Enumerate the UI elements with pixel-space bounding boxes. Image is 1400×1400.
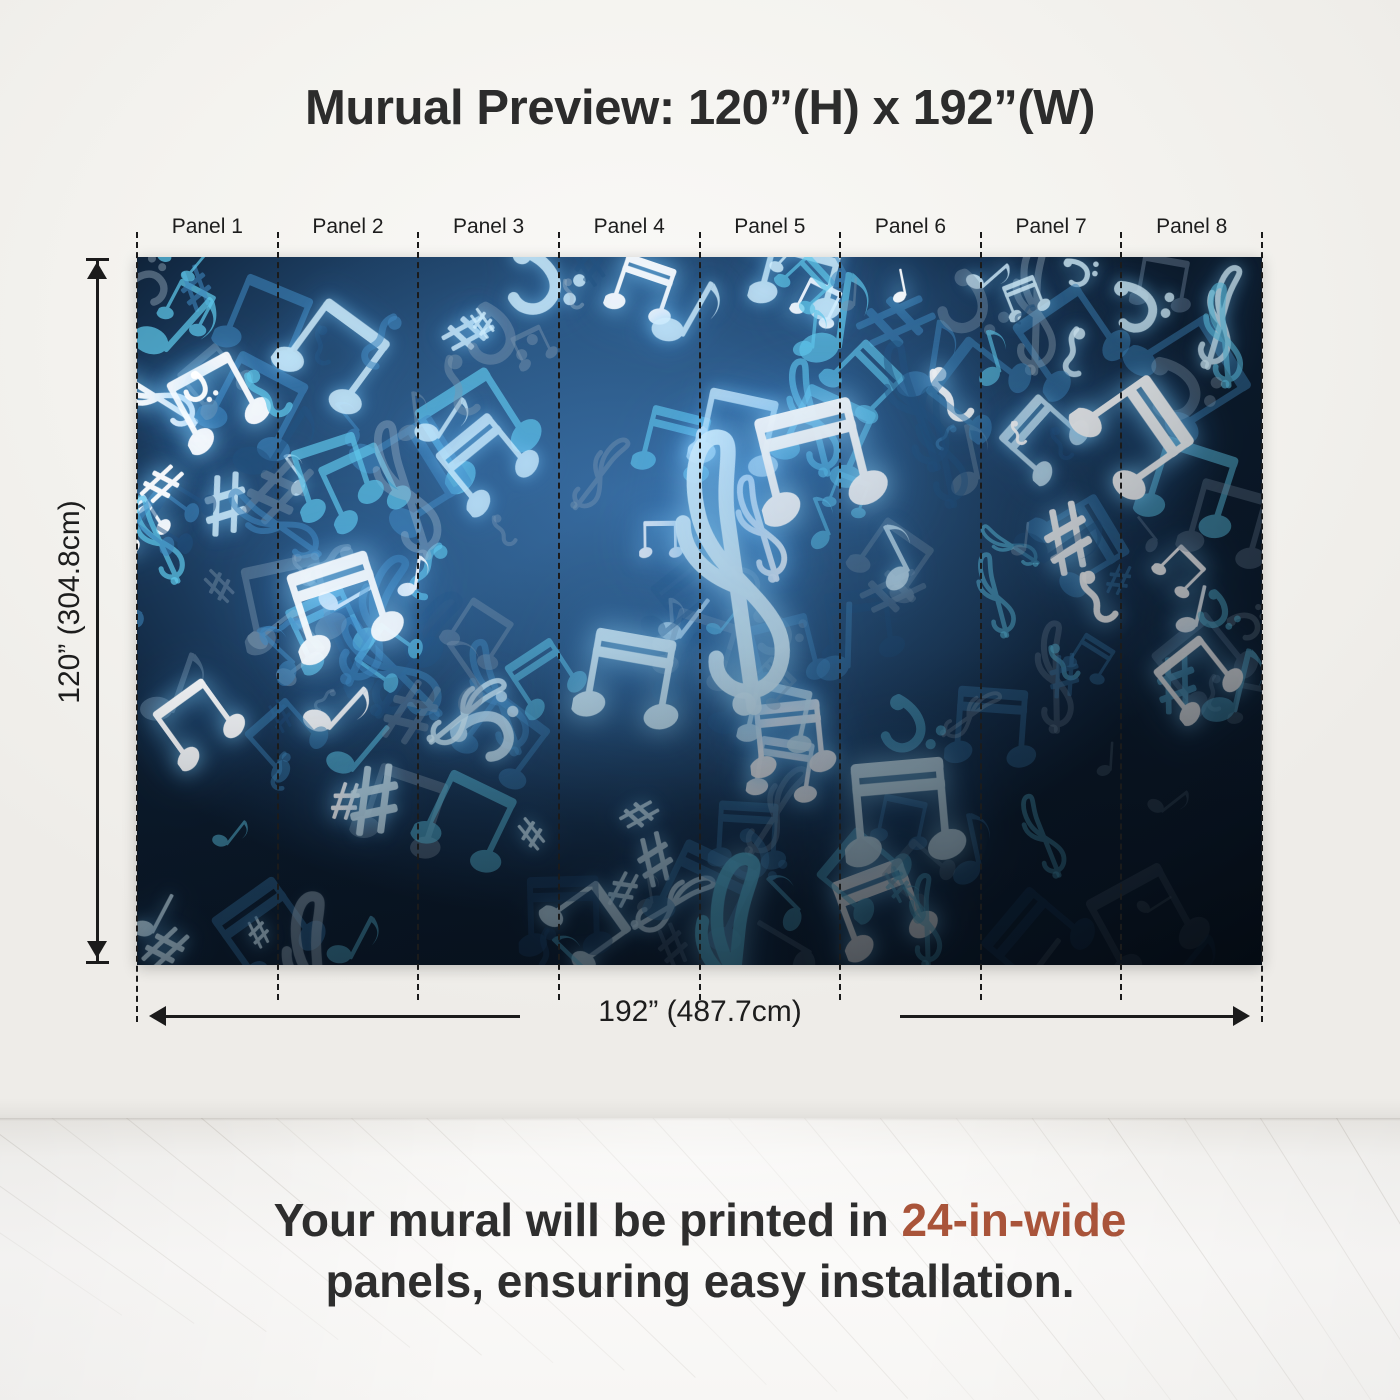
music-note-beamed bbox=[744, 692, 841, 789]
music-note-bass bbox=[1186, 584, 1247, 646]
music-note-eighth bbox=[964, 321, 1018, 390]
music-note-rest bbox=[347, 304, 408, 390]
music-note-beamed bbox=[423, 398, 553, 528]
width-dimension-line-left bbox=[160, 1015, 520, 1018]
music-note-sharp bbox=[261, 696, 300, 737]
music-note-beamed bbox=[399, 350, 558, 509]
music-note-treble bbox=[451, 628, 546, 769]
music-note-sharp bbox=[435, 302, 500, 363]
music-note-beamed bbox=[279, 421, 392, 534]
music-note-treble bbox=[353, 408, 462, 575]
music-note-bass-large bbox=[1243, 957, 1262, 965]
music-note-beamed-large bbox=[272, 537, 415, 680]
music-note-sharp bbox=[601, 866, 644, 915]
music-note-beamed bbox=[968, 869, 1112, 965]
music-note-eighth bbox=[531, 922, 608, 965]
panel-divider-5 bbox=[839, 232, 841, 1000]
music-note-eighth bbox=[648, 591, 690, 653]
music-note-quarter bbox=[137, 591, 151, 631]
music-note-eighth bbox=[1133, 909, 1233, 965]
music-note-beamed bbox=[347, 612, 434, 699]
music-note-quarter bbox=[988, 917, 1072, 965]
music-note-treble bbox=[931, 681, 1013, 752]
music-note-beamed bbox=[516, 869, 615, 965]
music-note-beamed bbox=[786, 272, 851, 337]
music-note-beamed bbox=[137, 486, 179, 561]
music-note-beamed bbox=[1226, 677, 1262, 738]
music-note-treble-large bbox=[651, 415, 819, 735]
music-note-treble bbox=[1030, 617, 1082, 738]
music-note-eighth bbox=[791, 303, 830, 360]
panel-divider-3 bbox=[558, 232, 560, 1000]
music-note-treble bbox=[1008, 785, 1080, 888]
music-note-sharp bbox=[326, 778, 365, 825]
music-note-rest bbox=[280, 549, 328, 599]
music-note-treble bbox=[863, 329, 968, 487]
music-note-treble bbox=[966, 545, 1027, 645]
music-note-rest bbox=[284, 526, 361, 609]
music-note-treble bbox=[413, 664, 521, 764]
music-note-beamed bbox=[768, 257, 844, 323]
music-note-bass bbox=[1102, 275, 1183, 345]
music-note-eighth bbox=[810, 257, 862, 291]
music-note-beamed bbox=[1138, 597, 1262, 732]
music-note-quarter bbox=[1133, 883, 1176, 920]
music-note-sharp bbox=[199, 471, 253, 541]
footer-line2: panels, ensuring easy installation. bbox=[325, 1255, 1074, 1307]
music-note-beamed bbox=[495, 627, 598, 730]
music-note-beamed bbox=[628, 397, 726, 495]
music-note-beamed bbox=[168, 332, 264, 428]
music-note-beamed bbox=[943, 679, 1044, 780]
music-note-beamed bbox=[998, 267, 1146, 415]
music-note-eighth bbox=[962, 257, 1020, 304]
music-note-beamed bbox=[737, 650, 805, 718]
music-note-sharp bbox=[370, 669, 450, 758]
music-note-beamed bbox=[152, 273, 225, 346]
music-note-treble bbox=[1182, 257, 1260, 381]
panel-divider-7 bbox=[1120, 232, 1122, 1000]
width-dimension-label: 192” (487.7cm) bbox=[520, 995, 880, 1029]
music-note-rest bbox=[228, 361, 314, 436]
music-note-sharp bbox=[1101, 560, 1136, 601]
panel-label-5: Panel 5 bbox=[700, 215, 840, 239]
music-note-rest bbox=[396, 534, 454, 619]
music-note-bass bbox=[712, 822, 796, 905]
music-note-beamed bbox=[814, 579, 909, 674]
music-note-bass bbox=[1222, 599, 1262, 649]
music-note-treble bbox=[321, 596, 466, 741]
music-note-beamed bbox=[1058, 626, 1124, 692]
music-note-beamed bbox=[1014, 482, 1143, 611]
music-note-beamed bbox=[988, 380, 1102, 494]
music-note-rest bbox=[1002, 417, 1037, 455]
music-note-bass bbox=[485, 257, 598, 341]
music-note-sharp bbox=[627, 827, 683, 892]
music-note-rest bbox=[301, 321, 343, 379]
music-note-beamed bbox=[600, 257, 689, 336]
music-note-rest bbox=[242, 602, 309, 662]
music-note-beamed bbox=[505, 319, 563, 377]
music-note-beamed bbox=[309, 566, 457, 714]
music-note-quarter bbox=[1096, 739, 1118, 779]
music-note-rest bbox=[681, 422, 711, 467]
music-note-beamed bbox=[839, 507, 948, 616]
music-note-rest bbox=[522, 923, 573, 965]
music-note-sharp bbox=[1046, 653, 1083, 701]
music-note-beamed bbox=[1146, 538, 1214, 606]
music-note-sharp bbox=[137, 455, 190, 513]
music-note-sharp bbox=[196, 565, 242, 609]
music-note-bass bbox=[447, 294, 548, 391]
music-note-beamed bbox=[1071, 847, 1225, 965]
panel-label-7: Panel 7 bbox=[981, 215, 1121, 239]
music-note-eighth bbox=[209, 808, 257, 858]
music-note-rest bbox=[306, 681, 340, 721]
music-note-beamed bbox=[820, 466, 880, 526]
music-note-beamed bbox=[234, 686, 340, 792]
music-note-eighth bbox=[889, 876, 939, 927]
music-note-quarter bbox=[887, 265, 912, 304]
music-note-beamed bbox=[811, 329, 918, 436]
music-note-eighth bbox=[1005, 487, 1122, 595]
music-note-bass bbox=[862, 687, 956, 778]
music-note-beamed bbox=[1143, 623, 1256, 736]
music-note-bass bbox=[742, 604, 814, 667]
music-note-treble bbox=[902, 378, 982, 518]
music-note-eighth bbox=[392, 386, 433, 445]
panel-label-2: Panel 2 bbox=[278, 215, 418, 239]
music-note-sharp bbox=[615, 791, 664, 838]
music-note-beamed bbox=[433, 590, 525, 682]
music-note-sharp bbox=[137, 916, 196, 965]
music-note-treble bbox=[972, 513, 1049, 578]
music-note-eighth bbox=[938, 802, 1003, 889]
music-note-beamed bbox=[805, 812, 926, 933]
mural-edge-guide bbox=[1261, 232, 1263, 1022]
panel-label-4: Panel 4 bbox=[559, 215, 699, 239]
music-note-eighth bbox=[319, 391, 376, 450]
music-note-beamed bbox=[818, 846, 948, 965]
music-note-beamed bbox=[307, 431, 422, 546]
height-dimension-label: 120” (304.8cm) bbox=[53, 472, 87, 732]
music-note-sharp bbox=[876, 862, 918, 907]
music-note-sharp bbox=[240, 914, 277, 953]
music-note-beamed bbox=[239, 600, 336, 697]
music-note-eighth bbox=[936, 414, 1001, 501]
music-note-beamed-large bbox=[837, 747, 972, 882]
music-note-rest bbox=[1196, 671, 1231, 724]
music-note-beamed bbox=[644, 621, 773, 750]
music-note-quarter bbox=[320, 704, 400, 789]
music-note-beamed bbox=[142, 665, 258, 781]
music-note-beamed bbox=[997, 269, 1056, 328]
music-note-eighth bbox=[409, 380, 481, 459]
music-note-sharp bbox=[1032, 497, 1105, 583]
music-note-treble bbox=[1197, 279, 1253, 395]
mural-edge-guide bbox=[136, 232, 138, 1022]
music-note-beamed bbox=[187, 339, 327, 479]
music-note-rest bbox=[1060, 563, 1139, 644]
width-arrow-left-icon bbox=[149, 1006, 166, 1026]
music-note-sharp bbox=[464, 305, 502, 344]
music-note-quarter bbox=[1174, 577, 1214, 638]
panel-divider-4 bbox=[699, 232, 701, 1000]
panel-label-6: Panel 6 bbox=[840, 215, 980, 239]
music-note-eighth bbox=[1143, 775, 1198, 827]
music-note-eighth bbox=[225, 379, 334, 500]
music-note-beamed bbox=[528, 870, 643, 965]
music-note-rest bbox=[928, 419, 961, 461]
music-note-eighth bbox=[137, 635, 217, 736]
music-note-beamed bbox=[1108, 299, 1262, 460]
music-note-beamed bbox=[1127, 257, 1201, 322]
music-note-beamed bbox=[137, 476, 210, 562]
music-note-beamed bbox=[867, 789, 937, 859]
music-note-beamed bbox=[639, 539, 754, 654]
height-dimension-line bbox=[96, 258, 99, 964]
music-note-beamed bbox=[274, 574, 386, 686]
music-note-quarter bbox=[1125, 511, 1167, 556]
panel-divider-1 bbox=[277, 232, 279, 1000]
music-note-rest bbox=[266, 750, 294, 801]
music-note-beamed bbox=[707, 795, 792, 880]
music-note-bass bbox=[441, 682, 544, 782]
music-note-rest bbox=[1037, 421, 1087, 473]
music-note-rest bbox=[910, 358, 997, 444]
music-note-bass bbox=[1060, 257, 1104, 292]
music-note-quarter bbox=[703, 598, 744, 643]
music-note-treble-large bbox=[669, 842, 800, 965]
music-note-beamed bbox=[634, 827, 777, 965]
music-note-quarter bbox=[738, 909, 830, 965]
music-note-beamed-large bbox=[568, 618, 694, 744]
music-note-beamed bbox=[335, 400, 489, 554]
music-note-eighth bbox=[631, 867, 665, 914]
music-note-sharp bbox=[847, 277, 943, 366]
music-note-beamed bbox=[743, 257, 860, 335]
music-note-beamed bbox=[403, 758, 534, 889]
music-note-beamed bbox=[1128, 425, 1257, 554]
music-note-rest bbox=[1053, 324, 1094, 392]
music-note-bass bbox=[1131, 349, 1232, 440]
footer-line1-accent: 24-in-wide bbox=[901, 1194, 1126, 1246]
music-note-eighth bbox=[746, 862, 820, 937]
music-note-rest bbox=[421, 345, 503, 439]
music-note-quarter bbox=[653, 582, 719, 654]
music-note-quarter bbox=[839, 274, 861, 313]
music-note-beamed bbox=[1171, 469, 1262, 583]
music-note-sharp bbox=[852, 554, 932, 629]
music-note-rest bbox=[1036, 638, 1097, 696]
music-note-treble bbox=[721, 466, 802, 594]
music-note-sharp bbox=[647, 918, 698, 965]
music-note-beamed bbox=[639, 518, 684, 563]
music-note-beamed bbox=[741, 257, 805, 280]
music-note-beamed bbox=[154, 338, 283, 467]
music-note-beamed bbox=[443, 682, 566, 805]
music-note-sharp bbox=[171, 261, 222, 317]
music-note-beamed bbox=[762, 373, 894, 505]
music-note-treble bbox=[137, 347, 213, 445]
music-note-sharp bbox=[562, 257, 617, 293]
width-arrow-right-icon bbox=[1233, 1006, 1250, 1026]
footer-note: Your mural will be printed in 24-in-wide… bbox=[0, 1190, 1400, 1311]
music-note-beamed bbox=[1055, 360, 1211, 516]
music-note-treble bbox=[904, 870, 949, 965]
music-note-treble bbox=[728, 753, 827, 872]
music-note-bass bbox=[917, 261, 1019, 364]
panel-divider-6 bbox=[980, 232, 982, 1000]
music-note-quarter bbox=[1010, 518, 1034, 559]
page-title: Murual Preview: 120”(H) x 192”(W) bbox=[0, 80, 1400, 136]
music-note-beamed bbox=[873, 827, 966, 920]
music-note-treble bbox=[556, 426, 645, 525]
music-note-treble-large bbox=[270, 884, 368, 965]
music-note-bass bbox=[173, 367, 223, 417]
music-note-treble bbox=[619, 861, 728, 949]
music-note-beamed bbox=[228, 542, 355, 669]
music-note-beamed-large bbox=[738, 383, 899, 544]
music-note-treble bbox=[772, 349, 855, 487]
music-note-eighth bbox=[419, 625, 508, 721]
music-note-beamed bbox=[152, 257, 215, 289]
music-note-eighth bbox=[858, 512, 931, 597]
music-note-eighth bbox=[396, 549, 433, 601]
music-note-sharp bbox=[1151, 652, 1204, 719]
music-note-beamed bbox=[744, 730, 827, 813]
music-note-beamed bbox=[261, 285, 409, 433]
music-note-eighth bbox=[297, 663, 386, 754]
panel-label-8: Panel 8 bbox=[1122, 215, 1262, 239]
panel-label-1: Panel 1 bbox=[137, 215, 277, 239]
music-note-beamed bbox=[206, 263, 331, 388]
music-note-eighth bbox=[796, 257, 879, 373]
music-note-beamed bbox=[137, 469, 227, 560]
music-note-beamed bbox=[198, 861, 341, 965]
music-note-treble bbox=[1005, 257, 1068, 382]
music-note-rest bbox=[1006, 297, 1039, 334]
music-note-quarter bbox=[313, 567, 378, 622]
height-arrow-up-icon bbox=[87, 262, 107, 279]
panel-divider-2 bbox=[417, 232, 419, 1000]
music-note-treble bbox=[137, 484, 200, 595]
music-note-beamed bbox=[733, 672, 825, 764]
music-note-sharp bbox=[510, 813, 553, 856]
music-note-beamed bbox=[648, 600, 753, 705]
music-note-eighth bbox=[137, 268, 236, 383]
music-note-sharp bbox=[345, 763, 403, 840]
height-arrow-down-icon bbox=[87, 941, 107, 958]
music-note-bass bbox=[137, 257, 188, 320]
height-tick-bottom bbox=[86, 961, 109, 964]
height-tick-top bbox=[86, 258, 109, 261]
music-note-quarter bbox=[137, 881, 181, 946]
music-note-rest bbox=[480, 509, 531, 559]
music-note-eighth bbox=[322, 900, 390, 965]
music-note-beamed bbox=[738, 604, 838, 704]
music-note-eighth bbox=[1197, 633, 1262, 734]
music-note-beamed bbox=[345, 754, 466, 875]
footer-line1-pre: Your mural will be printed in bbox=[274, 1194, 902, 1246]
panel-label-3: Panel 3 bbox=[419, 215, 559, 239]
music-note-treble bbox=[679, 522, 777, 614]
music-note-eighth bbox=[893, 307, 965, 407]
width-dimension-line-right bbox=[900, 1015, 1245, 1018]
music-note-eighth bbox=[646, 260, 736, 362]
